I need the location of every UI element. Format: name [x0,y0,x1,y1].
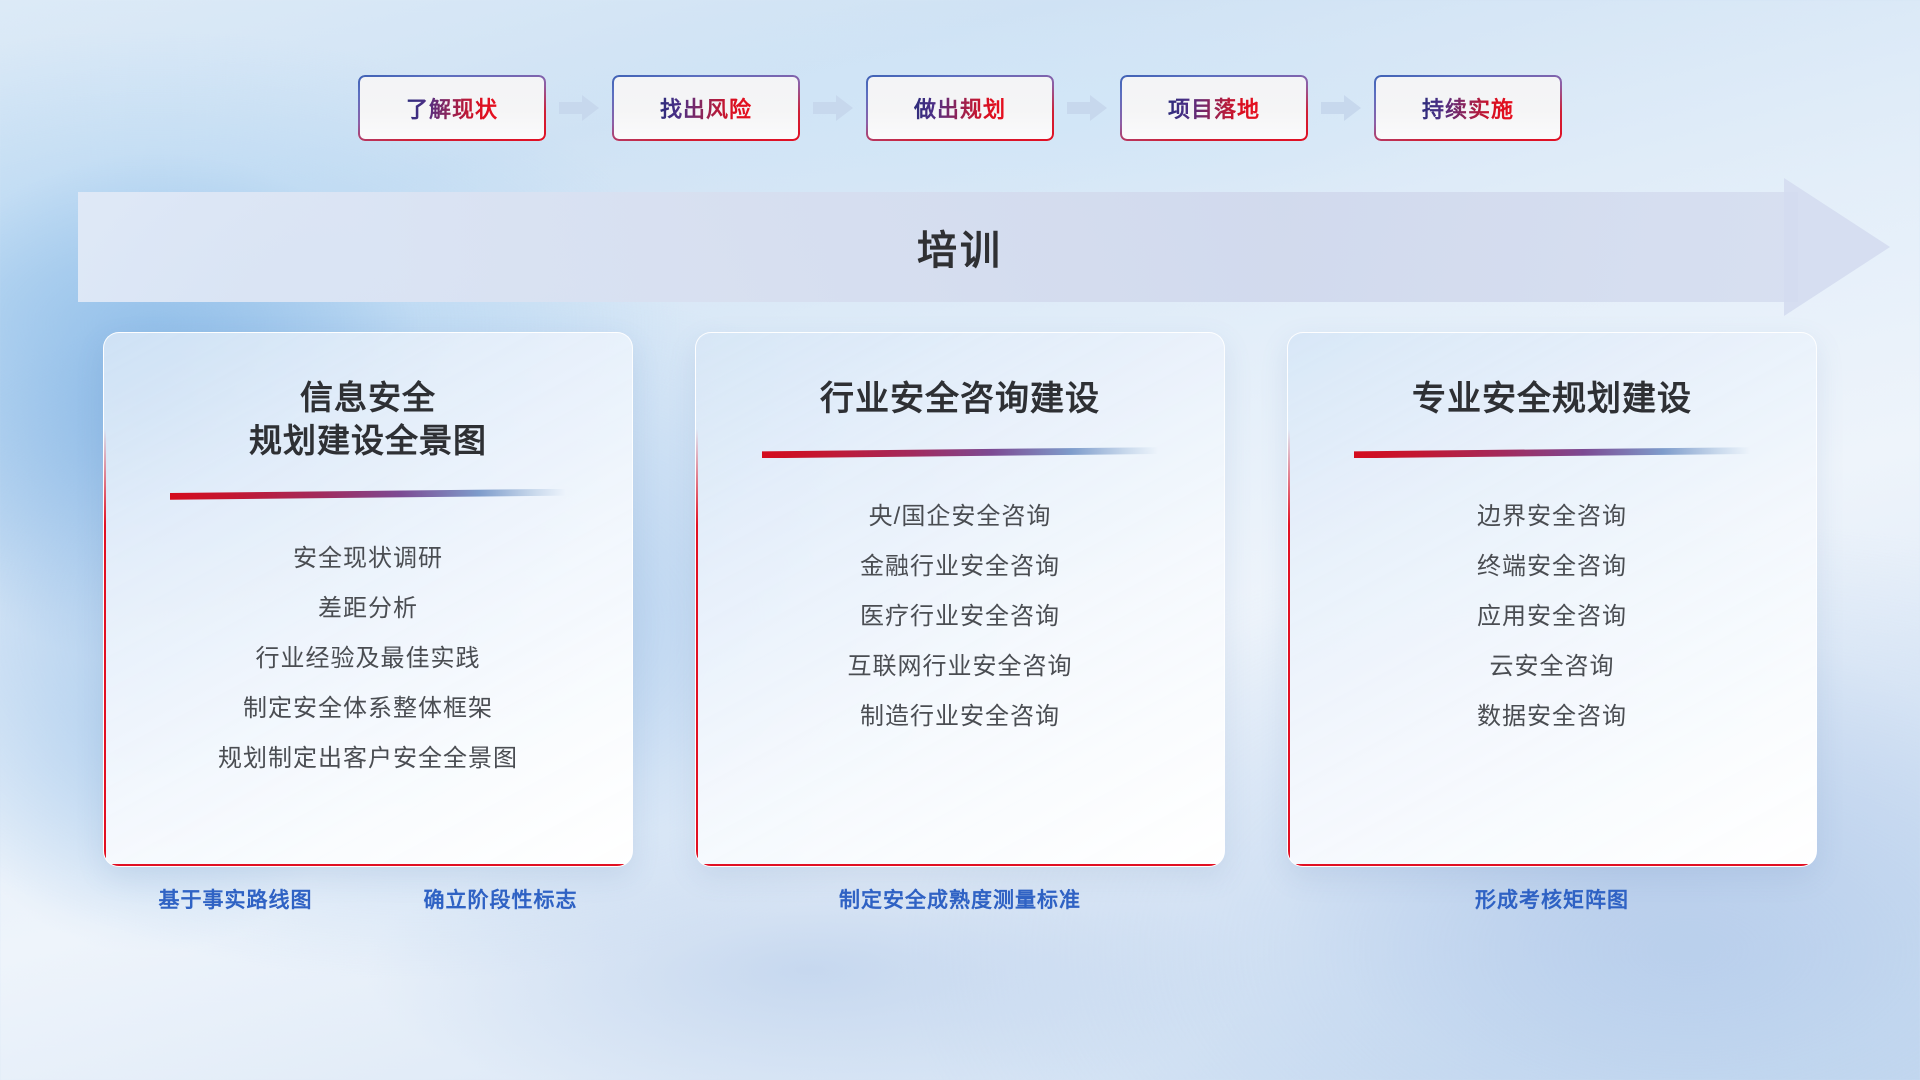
card-divider [170,489,566,500]
process-step-label: 持续实施 [1422,92,1514,124]
list-item[interactable]: 终端安全咨询 [1322,542,1782,592]
arrow-right-icon [546,75,612,141]
card-column-2: 行业安全咨询建设央/国企安全咨询金融行业安全咨询医疗行业安全咨询互联网行业安全咨… [695,332,1225,872]
arrow-right-icon [1054,75,1120,141]
list-item[interactable]: 制定安全体系整体框架 [138,684,598,734]
card-footnote-row: 制定安全成熟度测量标准 [695,884,1225,914]
arrow-right-icon [800,75,866,141]
process-step-4[interactable]: 项目落地 [1120,75,1308,141]
card-footnote-row: 基于事实路线图确立阶段性标志 [103,884,633,914]
arrow-right-icon [1308,75,1374,141]
service-card-2[interactable]: 行业安全咨询建设央/国企安全咨询金融行业安全咨询医疗行业安全咨询互联网行业安全咨… [695,332,1225,867]
process-step-3[interactable]: 做出规划 [866,75,1054,141]
card-title: 信息安全规划建设全景图 [249,377,487,463]
process-step-5[interactable]: 持续实施 [1374,75,1562,141]
list-item[interactable]: 安全现状调研 [138,534,598,584]
card-footnote: 确立阶段性标志 [424,884,578,914]
card-divider [762,447,1158,458]
list-item[interactable]: 行业经验及最佳实践 [138,634,598,684]
process-step-label: 了解现状 [406,92,498,124]
service-card-1[interactable]: 信息安全规划建设全景图安全现状调研差距分析行业经验及最佳实践制定安全体系整体框架… [103,332,633,867]
card-item-list: 央/国企安全咨询金融行业安全咨询医疗行业安全咨询互联网行业安全咨询制造行业安全咨… [730,492,1190,742]
card-title: 行业安全咨询建设 [820,377,1100,421]
list-item[interactable]: 央/国企安全咨询 [730,492,1190,542]
card-footnote: 制定安全成熟度测量标准 [839,884,1081,914]
card-divider-wrap [138,463,598,500]
card-column-1: 信息安全规划建设全景图安全现状调研差距分析行业经验及最佳实践制定安全体系整体框架… [103,332,633,872]
card-content: 行业安全咨询建设央/国企安全咨询金融行业安全咨询医疗行业安全咨询互联网行业安全咨… [696,333,1224,866]
card-title-line: 专业安全规划建设 [1412,377,1692,421]
process-step-label: 项目落地 [1168,92,1260,124]
process-step-1[interactable]: 了解现状 [358,75,546,141]
card-divider-wrap [730,421,1190,458]
list-item[interactable]: 云安全咨询 [1322,642,1782,692]
card-title-line: 信息安全 [249,377,487,420]
card-divider-wrap [1322,421,1782,458]
card-item-list: 边界安全咨询终端安全咨询应用安全咨询云安全咨询数据安全咨询 [1322,492,1782,742]
process-step-label: 找出风险 [660,92,752,124]
list-item[interactable]: 医疗行业安全咨询 [730,592,1190,642]
list-item[interactable]: 边界安全咨询 [1322,492,1782,542]
card-divider [1354,447,1750,458]
list-item[interactable]: 规划制定出客户安全全景图 [138,734,598,784]
process-step-2[interactable]: 找出风险 [612,75,800,141]
card-item-list: 安全现状调研差距分析行业经验及最佳实践制定安全体系整体框架规划制定出客户安全全景… [138,534,598,784]
card-footnote: 基于事实路线图 [159,884,313,914]
list-item[interactable]: 金融行业安全咨询 [730,542,1190,592]
list-item[interactable]: 数据安全咨询 [1322,692,1782,742]
list-item[interactable]: 应用安全咨询 [1322,592,1782,642]
card-title: 专业安全规划建设 [1412,377,1692,421]
training-banner: 培训 [0,192,1920,302]
training-banner-label: 培训 [0,192,1920,302]
card-column-3: 专业安全规划建设边界安全咨询终端安全咨询应用安全咨询云安全咨询数据安全咨询形成考… [1287,332,1817,872]
card-footnote-row: 形成考核矩阵图 [1287,884,1817,914]
list-item[interactable]: 制造行业安全咨询 [730,692,1190,742]
card-title-line: 规划建设全景图 [249,420,487,463]
card-content: 专业安全规划建设边界安全咨询终端安全咨询应用安全咨询云安全咨询数据安全咨询 [1288,333,1816,866]
process-step-label: 做出规划 [914,92,1006,124]
card-content: 信息安全规划建设全景图安全现状调研差距分析行业经验及最佳实践制定安全体系整体框架… [104,333,632,866]
service-card-3[interactable]: 专业安全规划建设边界安全咨询终端安全咨询应用安全咨询云安全咨询数据安全咨询 [1287,332,1817,867]
card-row: 信息安全规划建设全景图安全现状调研差距分析行业经验及最佳实践制定安全体系整体框架… [0,332,1920,872]
list-item[interactable]: 互联网行业安全咨询 [730,642,1190,692]
list-item[interactable]: 差距分析 [138,584,598,634]
card-footnote: 形成考核矩阵图 [1475,884,1629,914]
process-step-row: 了解现状找出风险做出规划项目落地持续实施 [0,70,1920,146]
card-title-line: 行业安全咨询建设 [820,377,1100,421]
